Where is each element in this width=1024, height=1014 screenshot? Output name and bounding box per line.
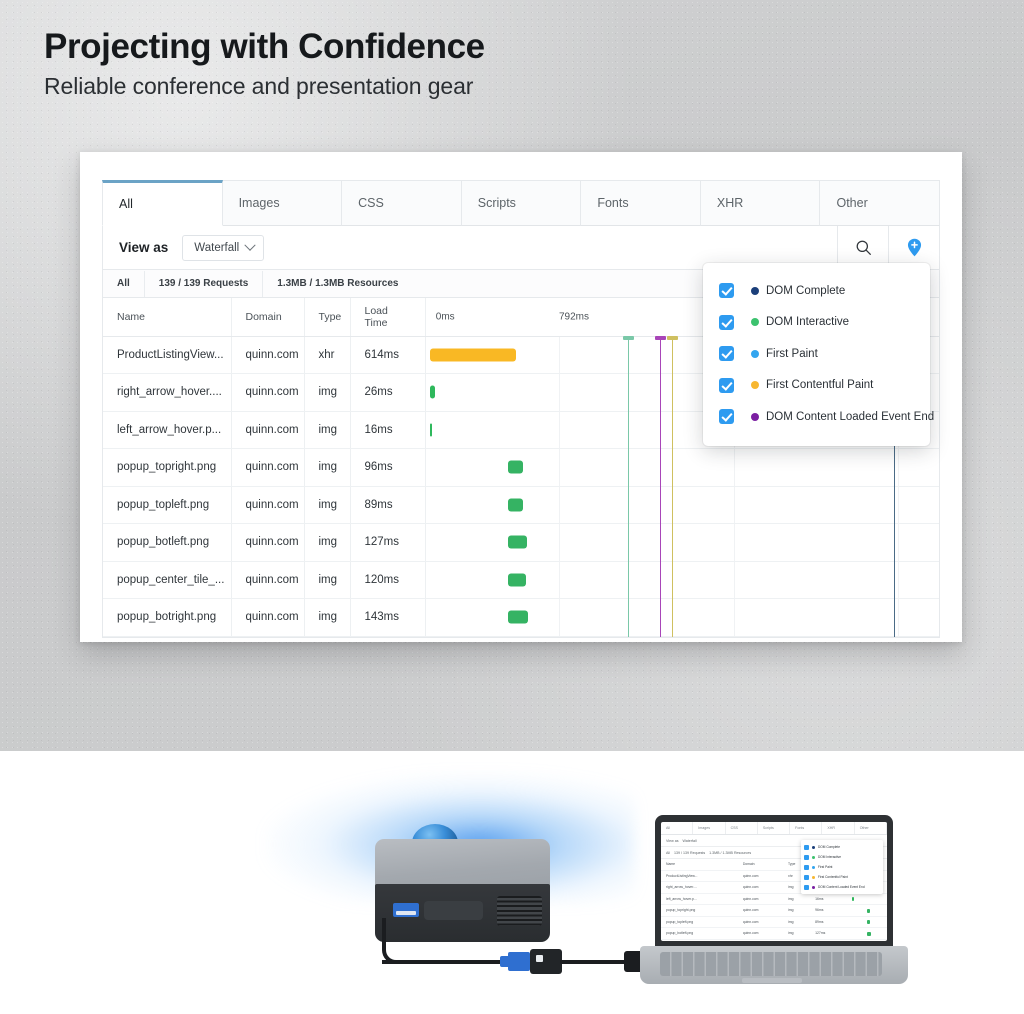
tab-other[interactable]: Other bbox=[820, 180, 940, 226]
cell-load-time: 127ms bbox=[350, 524, 425, 562]
gridline bbox=[898, 487, 899, 524]
cell-load-time: 26ms bbox=[350, 374, 425, 412]
cell-waterfall bbox=[425, 449, 939, 487]
tab-label: Other bbox=[836, 196, 867, 210]
mini-table-row: popup_botleft.pngquinn.comimg127ms bbox=[661, 928, 887, 940]
metric-color-dot bbox=[751, 413, 759, 421]
mini-cell-waterfall bbox=[851, 940, 887, 942]
cell-name: popup_topleft.png bbox=[103, 486, 231, 524]
cell-load-time: 16ms bbox=[350, 411, 425, 449]
cell-domain: quinn.com bbox=[231, 524, 304, 562]
cell-domain: quinn.com bbox=[231, 411, 304, 449]
mini-tab: XHR bbox=[822, 822, 854, 834]
mini-waterfall-bar bbox=[867, 920, 870, 924]
cell-domain: quinn.com bbox=[231, 599, 304, 637]
mini-col-header: Name bbox=[661, 862, 738, 866]
mini-metric-filter-row: DOM Content Loaded Event End bbox=[801, 882, 883, 892]
cell-name: left_arrow_hover.p... bbox=[103, 411, 231, 449]
laptop-keyboard bbox=[660, 952, 882, 976]
cell-load-time: 614ms bbox=[350, 336, 425, 374]
mini-table-row: left_arrow_hover.p...quinn.comimg16ms bbox=[661, 894, 887, 906]
mini-cell: 16ms bbox=[810, 897, 851, 901]
mini-cell: img bbox=[783, 908, 810, 912]
mini-summary-resources: 1.3MB / 1.3MB Resources bbox=[709, 851, 751, 855]
cell-type: img bbox=[304, 524, 350, 562]
tab-bar: AllImagesCSSScriptsFontsXHROther bbox=[102, 180, 940, 226]
tab-fonts[interactable]: Fonts bbox=[581, 180, 701, 226]
mini-col-header: Domain bbox=[738, 862, 783, 866]
mini-checkbox-checked-icon bbox=[804, 885, 809, 890]
gridline bbox=[898, 449, 899, 486]
laptop-screen: AllImagesCSSScriptsFontsXHROther View as… bbox=[655, 815, 893, 948]
waterfall-bar[interactable] bbox=[508, 498, 523, 511]
metric-color-dot bbox=[751, 318, 759, 326]
tab-label: XHR bbox=[717, 196, 743, 210]
tab-label: Images bbox=[239, 196, 280, 210]
gridline bbox=[559, 487, 560, 524]
mini-waterfall-bar bbox=[867, 932, 871, 936]
mini-cell: img bbox=[783, 931, 810, 935]
gridline bbox=[734, 487, 735, 524]
mini-table-row: popup_topleft.pngquinn.comimg89ms bbox=[661, 917, 887, 929]
projector-front-plate bbox=[424, 901, 483, 920]
tab-images[interactable]: Images bbox=[223, 180, 343, 226]
gridline bbox=[559, 412, 560, 449]
gridline bbox=[734, 449, 735, 486]
metric-label: First Contentful Paint bbox=[766, 379, 873, 391]
gridline bbox=[559, 337, 560, 374]
gridline bbox=[559, 599, 560, 636]
mini-metric-filter-row: First Paint bbox=[801, 862, 883, 872]
mini-cell: ProductListingView... bbox=[661, 874, 738, 878]
tab-xhr[interactable]: XHR bbox=[701, 180, 821, 226]
mini-cell: right_arrow_hover.... bbox=[661, 885, 738, 889]
chevron-down-icon bbox=[245, 239, 256, 250]
tab-label: All bbox=[119, 197, 133, 211]
mini-tab: Scripts bbox=[758, 822, 790, 834]
mini-metric-color-dot bbox=[812, 846, 815, 849]
mini-cell: quinn.com bbox=[738, 874, 783, 878]
cell-domain: quinn.com bbox=[231, 486, 304, 524]
mini-cell: img bbox=[783, 897, 810, 901]
mini-tab: Other bbox=[855, 822, 887, 834]
gridline bbox=[898, 599, 899, 636]
cell-load-time: 96ms bbox=[350, 449, 425, 487]
cell-name: popup_center_tile_... bbox=[103, 561, 231, 599]
mini-summary-requests: 139 / 139 Requests bbox=[674, 851, 705, 855]
col-load-time[interactable]: Load Time bbox=[350, 298, 425, 336]
laptop-trackpad bbox=[742, 978, 802, 983]
gridline bbox=[734, 599, 735, 636]
waterfall-bar[interactable] bbox=[508, 461, 523, 474]
page-subtitle: Reliable conference and presentation gea… bbox=[44, 73, 485, 100]
summary-resources: 1.3MB / 1.3MB Resources bbox=[263, 271, 412, 297]
mini-metric-label: DOM Content Loaded Event End bbox=[818, 885, 865, 889]
cell-type: img bbox=[304, 374, 350, 412]
projector-vent-grille bbox=[497, 896, 542, 926]
mini-view-as-value: Waterfall bbox=[683, 839, 697, 843]
mini-metric-label: First Paint bbox=[818, 865, 832, 869]
waterfall-bar[interactable] bbox=[508, 573, 526, 586]
metric-label: DOM Complete bbox=[766, 285, 845, 297]
cell-domain: quinn.com bbox=[231, 374, 304, 412]
cell-name: popup_topright.png bbox=[103, 449, 231, 487]
waterfall-bar[interactable] bbox=[430, 386, 435, 399]
mini-tab: All bbox=[661, 822, 693, 834]
checkbox-checked-icon[interactable] bbox=[719, 315, 734, 330]
cell-load-time: 120ms bbox=[350, 561, 425, 599]
mini-table-row: popup_center_tile_...quinn.comimg120ms bbox=[661, 940, 887, 942]
timeline-tick: 792ms bbox=[559, 311, 589, 322]
cell-domain: quinn.com bbox=[231, 561, 304, 599]
gridline bbox=[559, 524, 560, 561]
mini-cell-waterfall bbox=[851, 917, 887, 928]
mini-cell: left_arrow_hover.p... bbox=[661, 897, 738, 901]
mini-cell: quinn.com bbox=[738, 885, 783, 889]
metric-label: DOM Content Loaded Event End bbox=[766, 411, 934, 423]
gridline bbox=[559, 562, 560, 599]
tab-label: CSS bbox=[358, 196, 384, 210]
cell-type: img bbox=[304, 561, 350, 599]
mini-cell: popup_botleft.png bbox=[661, 931, 738, 935]
map-pin-plus-icon bbox=[907, 238, 922, 257]
tab-all[interactable]: All bbox=[102, 180, 223, 226]
mini-cell: 127ms bbox=[810, 931, 851, 935]
page-root: Projecting with Confidence Reliable conf… bbox=[0, 0, 1024, 1014]
usb-connector-blue bbox=[508, 952, 530, 971]
waterfall-bar[interactable] bbox=[430, 423, 432, 436]
metric-color-dot bbox=[751, 350, 759, 358]
tab-scripts[interactable]: Scripts bbox=[462, 180, 582, 226]
page-title: Projecting with Confidence bbox=[44, 26, 485, 67]
mini-metric-color-dot bbox=[812, 866, 815, 869]
mini-metric-filter-row: DOM Complete bbox=[801, 842, 883, 852]
gridline bbox=[734, 524, 735, 561]
view-as-dropdown[interactable]: Waterfall bbox=[182, 235, 264, 261]
mini-metric-filter-row: DOM Interactive bbox=[801, 852, 883, 862]
mini-tab-bar: AllImagesCSSScriptsFontsXHROther bbox=[661, 822, 887, 835]
metric-color-dot bbox=[751, 287, 759, 295]
metric-filter-row[interactable]: First Contentful Paint bbox=[703, 370, 930, 402]
gridline bbox=[898, 562, 899, 599]
gridline bbox=[898, 524, 899, 561]
cell-name: right_arrow_hover.... bbox=[103, 374, 231, 412]
cell-type: img bbox=[304, 599, 350, 637]
mini-cell: popup_topright.png bbox=[661, 908, 738, 912]
cell-waterfall bbox=[425, 599, 939, 637]
metric-filter-row[interactable]: DOM Interactive bbox=[703, 307, 930, 339]
cable-segment-left bbox=[382, 960, 514, 964]
gridline bbox=[734, 562, 735, 599]
checkbox-checked-icon[interactable] bbox=[719, 283, 734, 298]
mini-cell: quinn.com bbox=[738, 931, 783, 935]
table-row[interactable]: popup_center_tile_...quinn.comimg120ms bbox=[103, 561, 939, 599]
mini-metric-label: DOM Complete bbox=[818, 845, 840, 849]
mini-waterfall-bar bbox=[867, 909, 870, 913]
metric-filter-row[interactable]: DOM Complete bbox=[703, 275, 930, 307]
mini-cell-waterfall bbox=[851, 928, 887, 939]
usb-adapter-black bbox=[530, 949, 562, 974]
metric-color-dot bbox=[751, 381, 759, 389]
mini-checkbox-checked-icon bbox=[804, 875, 809, 880]
cell-name: popup_botleft.png bbox=[103, 524, 231, 562]
mini-cell-waterfall bbox=[851, 905, 887, 916]
metrics-filter-popover[interactable]: DOM CompleteDOM InteractiveFirst PaintFi… bbox=[703, 263, 930, 446]
hero-text-block: Projecting with Confidence Reliable conf… bbox=[44, 26, 485, 100]
timeline-tick: 0ms bbox=[436, 311, 455, 322]
col-type[interactable]: Type bbox=[304, 298, 350, 336]
metric-filter-row[interactable]: DOM Content Loaded Event End bbox=[703, 401, 930, 433]
tab-css[interactable]: CSS bbox=[342, 180, 462, 226]
mini-cell: quinn.com bbox=[738, 920, 783, 924]
mini-table-row: popup_topright.pngquinn.comimg96ms bbox=[661, 905, 887, 917]
cell-type: img bbox=[304, 411, 350, 449]
mini-metric-color-dot bbox=[812, 876, 815, 879]
mini-cell: 96ms bbox=[810, 908, 851, 912]
mini-metrics-popover: DOM CompleteDOM InteractiveFirst PaintFi… bbox=[801, 840, 883, 894]
table-row[interactable]: popup_topright.pngquinn.comimg96ms bbox=[103, 449, 939, 487]
cable-bend bbox=[382, 918, 400, 964]
mini-cell: 89ms bbox=[810, 920, 851, 924]
metric-label: DOM Interactive bbox=[766, 316, 849, 328]
cell-type: img bbox=[304, 449, 350, 487]
cell-domain: quinn.com bbox=[231, 449, 304, 487]
col-domain[interactable]: Domain bbox=[231, 298, 304, 336]
checkbox-checked-icon[interactable] bbox=[719, 409, 734, 424]
mini-checkbox-checked-icon bbox=[804, 845, 809, 850]
mini-tab: CSS bbox=[726, 822, 758, 834]
mini-cell-waterfall bbox=[851, 894, 887, 905]
mini-cell: img bbox=[783, 920, 810, 924]
mini-metric-color-dot bbox=[812, 886, 815, 889]
table-row[interactable]: popup_botleft.pngquinn.comimg127ms bbox=[103, 524, 939, 562]
mini-metric-color-dot bbox=[812, 856, 815, 859]
projector-usb-port bbox=[393, 903, 419, 917]
cell-name: ProductListingView... bbox=[103, 336, 231, 374]
checkbox-checked-icon[interactable] bbox=[719, 346, 734, 361]
mini-waterfall-bar bbox=[852, 897, 854, 901]
cell-name: popup_botright.png bbox=[103, 599, 231, 637]
mini-checkbox-checked-icon bbox=[804, 865, 809, 870]
mini-cell: quinn.com bbox=[738, 908, 783, 912]
mini-tab: Fonts bbox=[790, 822, 822, 834]
cell-type: xhr bbox=[304, 336, 350, 374]
cell-load-time: 143ms bbox=[350, 599, 425, 637]
table-row[interactable]: popup_botright.pngquinn.comimg143ms bbox=[103, 599, 939, 637]
view-as-value: Waterfall bbox=[194, 242, 239, 254]
cell-waterfall bbox=[425, 524, 939, 562]
mini-view-as-label: View as bbox=[666, 839, 679, 843]
gridline bbox=[559, 374, 560, 411]
mini-summary-filter: All bbox=[666, 851, 670, 855]
checkbox-checked-icon[interactable] bbox=[719, 378, 734, 393]
mini-tab: Images bbox=[693, 822, 725, 834]
gridline bbox=[559, 449, 560, 486]
mini-cell: popup_topleft.png bbox=[661, 920, 738, 924]
tab-label: Fonts bbox=[597, 196, 628, 210]
summary-requests: 139 / 139 Requests bbox=[145, 271, 264, 297]
cell-domain: quinn.com bbox=[231, 336, 304, 374]
mini-metric-filter-row: First Contentful Paint bbox=[801, 872, 883, 882]
tab-label: Scripts bbox=[478, 196, 516, 210]
col-name[interactable]: Name bbox=[103, 298, 231, 336]
table-row[interactable]: popup_topleft.pngquinn.comimg89ms bbox=[103, 486, 939, 524]
mini-metric-label: First Contentful Paint bbox=[818, 875, 848, 879]
waterfall-bar[interactable] bbox=[508, 536, 527, 549]
waterfall-bar[interactable] bbox=[508, 611, 528, 624]
mini-checkbox-checked-icon bbox=[804, 855, 809, 860]
cell-load-time: 89ms bbox=[350, 486, 425, 524]
view-as-label: View as bbox=[119, 240, 168, 255]
laptop-screen-content: AllImagesCSSScriptsFontsXHROther View as… bbox=[661, 822, 887, 941]
mini-metric-label: DOM Interactive bbox=[818, 855, 841, 859]
summary-filter: All bbox=[103, 271, 145, 297]
cell-type: img bbox=[304, 486, 350, 524]
cell-waterfall bbox=[425, 561, 939, 599]
waterfall-bar[interactable] bbox=[430, 348, 516, 361]
search-icon bbox=[855, 239, 872, 256]
metric-filter-row[interactable]: First Paint bbox=[703, 338, 930, 370]
metric-label: First Paint bbox=[766, 348, 818, 360]
cell-waterfall bbox=[425, 486, 939, 524]
mini-cell: quinn.com bbox=[738, 897, 783, 901]
cable-segment-right bbox=[560, 960, 626, 964]
